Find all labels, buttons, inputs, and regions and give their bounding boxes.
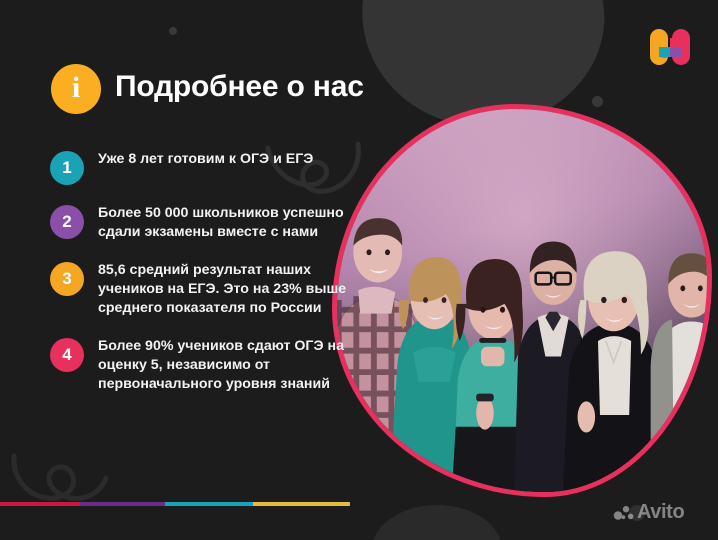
avito-dots-icon — [613, 505, 634, 520]
fact-number: 2 — [62, 212, 71, 232]
avito-watermark: Avito — [613, 502, 684, 522]
fact-number-badge: 1 — [50, 151, 84, 185]
slide-canvas: i Подробнее о нас 1 Уже 8 лет готовим к … — [0, 0, 718, 540]
color-bar-segment-purple — [80, 502, 165, 506]
color-bar-segment-yellow — [253, 502, 350, 506]
fact-number: 3 — [62, 269, 71, 289]
list-item: 4 Более 90% учеников сдают ОГЭ на оценку… — [50, 337, 350, 394]
list-item: 3 85,6 средний результат наших учеников … — [50, 261, 350, 318]
background-blob-bottom — [372, 505, 502, 540]
fact-number: 4 — [62, 345, 71, 365]
fact-text: 85,6 средний результат наших учеников на… — [98, 261, 350, 318]
fact-number-badge: 2 — [50, 205, 84, 239]
avito-wordmark: Avito — [637, 502, 684, 522]
list-item: 2 Более 50 000 школьников успешно сдали … — [50, 204, 350, 242]
facts-list: 1 Уже 8 лет готовим к ОГЭ и ЕГЭ 2 Более … — [50, 150, 350, 413]
background-dot-small — [169, 27, 177, 35]
page-title: Подробнее о нас — [115, 70, 364, 104]
fact-text: Более 50 000 школьников успешно сдали эк… — [98, 204, 350, 242]
brand-logo-icon — [648, 27, 692, 69]
team-photo — [332, 104, 712, 497]
photo-blob-frame — [332, 104, 712, 497]
info-icon: i — [51, 64, 101, 114]
photo-image — [337, 109, 707, 492]
fact-text: Более 90% учеников сдают ОГЭ на оценку 5… — [98, 337, 350, 394]
fact-number-badge: 3 — [50, 262, 84, 296]
color-bar-segment-teal — [165, 502, 253, 506]
list-item: 1 Уже 8 лет готовим к ОГЭ и ЕГЭ — [50, 150, 350, 185]
decorative-swirl-bottom — [8, 436, 113, 508]
info-icon-glyph: i — [72, 73, 80, 103]
fact-number-badge: 4 — [50, 338, 84, 372]
fact-number: 1 — [62, 158, 71, 178]
color-accent-bar — [0, 502, 350, 506]
color-bar-segment-red — [0, 502, 80, 506]
fact-text: Уже 8 лет готовим к ОГЭ и ЕГЭ — [98, 150, 313, 169]
